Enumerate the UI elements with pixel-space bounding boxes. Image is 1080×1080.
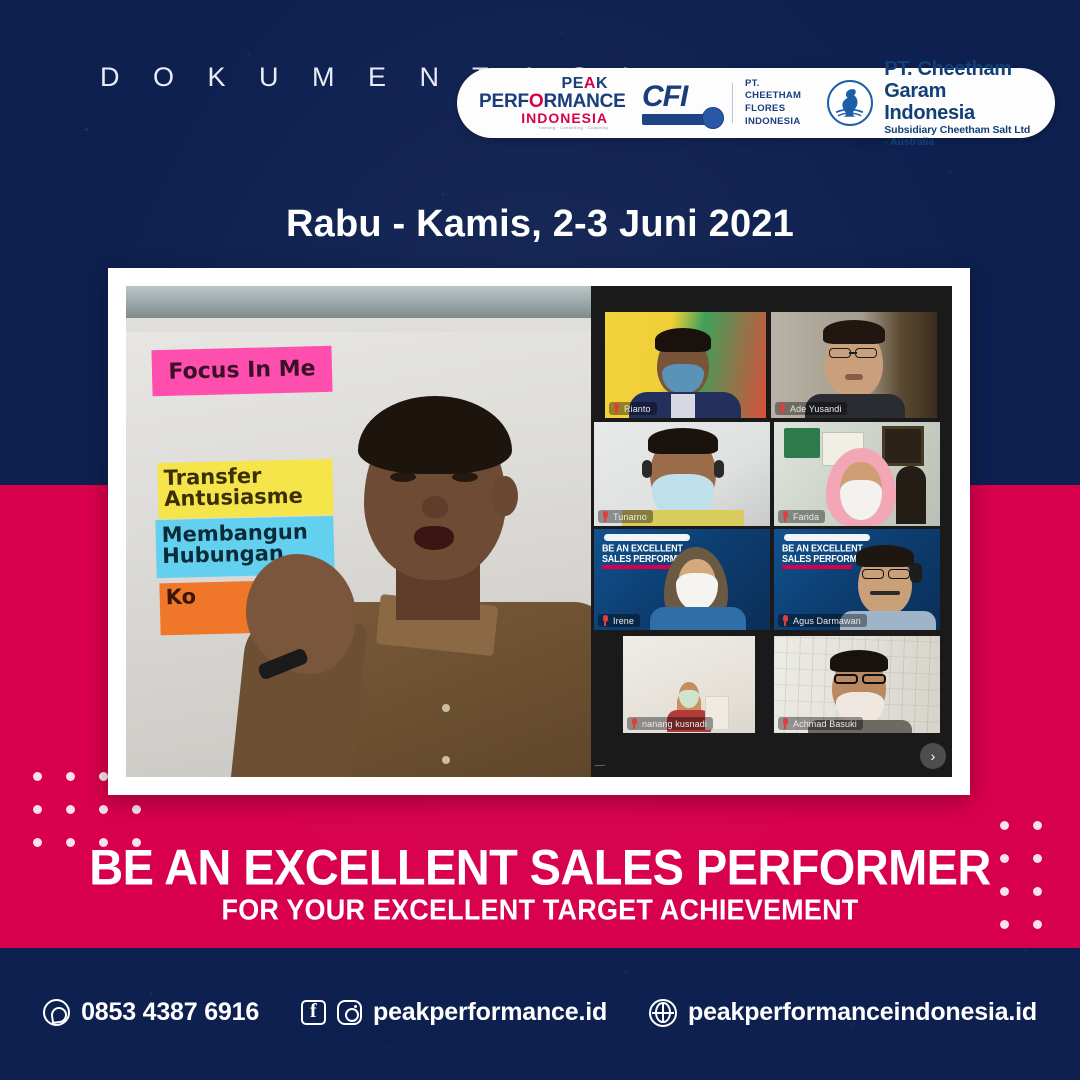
cfi-bar <box>642 114 720 125</box>
mic-icon <box>601 615 609 626</box>
cheetham-name: PT. Cheetham Garam Indonesia Subsidiary … <box>884 58 1033 149</box>
contact-phone[interactable]: 0853 4387 6916 <box>43 998 259 1027</box>
website-url: peakperformanceindonesia.id <box>688 998 1037 1027</box>
peak-logo-tagline: Training · Consulting · Coaching <box>479 126 608 130</box>
decorative-dot <box>33 772 42 781</box>
decorative-dot <box>132 805 141 814</box>
speaker-ear <box>492 476 518 516</box>
mic-icon <box>781 511 789 522</box>
peak-logo-line1: PEAK <box>479 76 608 92</box>
globe-website-icon <box>649 999 677 1027</box>
ceiling-edge <box>126 318 591 332</box>
participant-name: nanang kusnadi <box>642 719 707 729</box>
cfi-name-l2: CHEETHAM <box>745 90 801 103</box>
participant-tile[interactable]: Achmad Basuki <box>774 636 940 733</box>
cheetham-subtitle: Subsidiary Cheetham Salt Ltd - Australia <box>884 125 1033 149</box>
speaker-figure <box>246 404 591 777</box>
contact-social[interactable]: peakperformance.id <box>301 998 607 1027</box>
mic-icon <box>781 615 789 626</box>
cfi-name-l1: PT. <box>745 78 801 91</box>
decorative-dot <box>1033 821 1042 830</box>
photo-frame: Focus In Me Transfer Antusiasme Membangu… <box>108 268 970 795</box>
participant-namebar: Achmad Basuki <box>778 717 863 730</box>
poster-canvas: D O K U M E N T A S I PEAK PERFORMANCE I… <box>0 0 1080 1080</box>
participant-name: Farida <box>793 512 819 522</box>
peak-logo-line2: PERFORMANCE <box>479 92 608 111</box>
mic-icon <box>778 403 786 414</box>
social-handle: peakperformance.id <box>373 998 607 1027</box>
speaker-nose <box>422 496 448 518</box>
participant-tile[interactable]: BE AN EXCELLENT SALES PERFORMER <box>774 529 940 630</box>
decorative-dot <box>99 772 108 781</box>
seahorse-icon <box>827 80 873 126</box>
mic-icon <box>781 718 789 729</box>
contact-footer: 0853 4387 6916 peakperformance.id peakpe… <box>0 985 1080 1040</box>
decorative-dot <box>33 805 42 814</box>
peak-logo-line3: INDONESIA <box>479 111 608 125</box>
participant-namebar: nanang kusnadi <box>627 717 713 730</box>
next-page-button[interactable]: › <box>920 743 946 769</box>
zoom-screenshot: Focus In Me Transfer Antusiasme Membangu… <box>126 286 952 777</box>
participant-namebar: Ade Yusandi <box>775 402 847 415</box>
participant-tile[interactable]: Ade Yusandi <box>771 312 937 418</box>
cfi-logo: CFI PT. CHEETHAM FLORES INDONESIA <box>642 78 801 128</box>
participant-namebar: Agus Darmawan <box>778 614 867 627</box>
speaker-hair <box>358 396 512 474</box>
participant-tile[interactable]: Rianto <box>605 312 766 418</box>
cheetham-title: PT. Cheetham Garam Indonesia <box>884 58 1033 125</box>
participant-name: Ade Yusandi <box>790 404 841 414</box>
phone-number: 0853 4387 6916 <box>81 998 259 1027</box>
participant-name: Irene <box>613 616 634 626</box>
contact-website[interactable]: peakperformanceindonesia.id <box>649 998 1037 1027</box>
event-date: Rabu - Kamis, 2-3 Juni 2021 <box>0 203 1080 246</box>
participant-name: Achmad Basuki <box>793 719 857 729</box>
instagram-icon <box>337 1000 362 1025</box>
globe-icon <box>702 107 724 129</box>
participant-tile[interactable]: Tunarno <box>594 422 770 526</box>
participant-namebar: Farida <box>778 510 825 523</box>
decorative-dot <box>66 805 75 814</box>
mic-icon <box>601 511 609 522</box>
participant-name: Agus Darmawan <box>793 616 861 626</box>
speaker-video-panel: Focus In Me Transfer Antusiasme Membangu… <box>126 286 591 777</box>
mic-icon <box>612 403 620 414</box>
peak-performance-logo: PEAK PERFORMANCE INDONESIA Training · Co… <box>479 76 614 130</box>
cfi-name-l3: FLORES <box>745 103 801 116</box>
participant-tile[interactable]: Farida <box>774 422 940 526</box>
participant-namebar: Rianto <box>609 402 657 415</box>
whatsapp-icon <box>43 999 70 1026</box>
subheadline: FOR YOUR EXCELLENT TARGET ACHIEVEMENT <box>0 894 1080 927</box>
speaker-mouth <box>414 526 454 550</box>
headline: BE AN EXCELLENT SALES PERFORMER <box>0 838 1080 896</box>
ceiling <box>126 286 591 318</box>
cfi-mark: CFI <box>642 82 720 125</box>
decorative-dot <box>66 772 75 781</box>
participant-namebar: Irene <box>598 614 640 627</box>
decorative-dot <box>1000 821 1009 830</box>
participant-namebar: Tunarno <box>598 510 653 523</box>
flipchart-note-1: Focus In Me <box>151 346 332 396</box>
resize-handle-icon[interactable]: ⟋ <box>592 759 607 774</box>
facebook-icon <box>301 1000 326 1025</box>
logo-pill: PEAK PERFORMANCE INDONESIA Training · Co… <box>457 68 1055 138</box>
mic-icon <box>630 718 638 729</box>
cfi-name: PT. CHEETHAM FLORES INDONESIA <box>745 78 801 128</box>
cheetham-garam-logo: PT. Cheetham Garam Indonesia Subsidiary … <box>827 58 1033 149</box>
decorative-dot <box>99 805 108 814</box>
participant-grid: Rianto Ade <box>591 286 952 777</box>
logo-divider <box>732 83 733 123</box>
participant-tile[interactable]: nanang kusnadi <box>623 636 755 733</box>
participant-name: Rianto <box>624 404 651 414</box>
cfi-name-l4: INDONESIA <box>745 116 801 129</box>
participant-name: Tunarno <box>613 512 647 522</box>
participant-tile[interactable]: BE AN EXCELLENT SALES PERFORMER Irene <box>594 529 770 630</box>
